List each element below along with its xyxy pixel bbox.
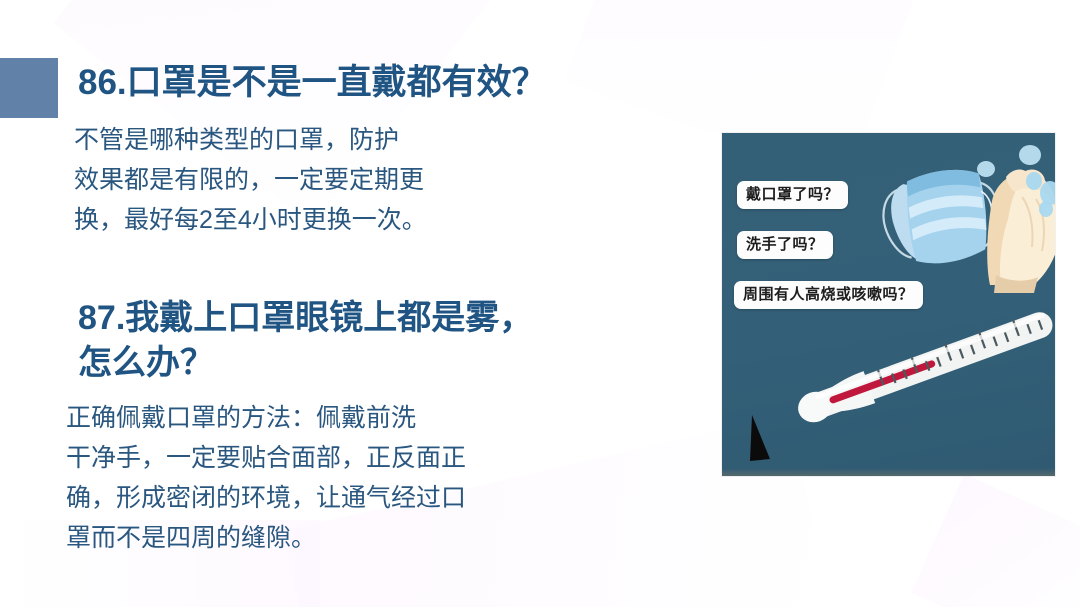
answer-text-87: 正确佩戴口罩的方法：佩戴前洗 干净手，一定要贴合面部，正反面正 确，形成密闭的环… [0, 386, 700, 558]
panel-bottom-shadow [722, 468, 1055, 476]
qa-block-86: 86.口罩是不是一直戴都有效？ 不管是哪种类型的口罩，防护 效果都是有限的，一定… [0, 60, 700, 240]
qa-block-87: 87.我戴上口罩眼镜上都是雾， 怎么办？ 正确佩戴口罩的方法：佩戴前洗 干净手，… [0, 296, 700, 558]
illustration-panel: 戴口罩了吗？ 洗手了吗？ 周围有人高烧或咳嗽吗？ [722, 133, 1055, 476]
watermark-shape [911, 474, 1080, 607]
black-wedge-shape [750, 415, 772, 461]
answer-text-86: 不管是哪种类型的口罩，防护 效果都是有限的，一定要定期更 换，最好每2至4小时更… [0, 106, 700, 240]
thermometer-icon [772, 293, 1055, 443]
label-wearing-mask: 戴口罩了吗？ [737, 181, 848, 209]
label-washed-hands: 洗手了吗？ [737, 231, 833, 259]
question-heading-86: 86.口罩是不是一直戴都有效？ [0, 60, 700, 106]
slide-canvas: 86.口罩是不是一直戴都有效？ 不管是哪种类型的口罩，防护 效果都是有限的，一定… [0, 0, 1080, 607]
question-heading-87: 87.我戴上口罩眼镜上都是雾， 怎么办？ [0, 296, 700, 386]
label-fever-or-cough: 周围有人高烧或咳嗽吗？ [734, 281, 923, 309]
washing-hands-icon [972, 143, 1055, 293]
